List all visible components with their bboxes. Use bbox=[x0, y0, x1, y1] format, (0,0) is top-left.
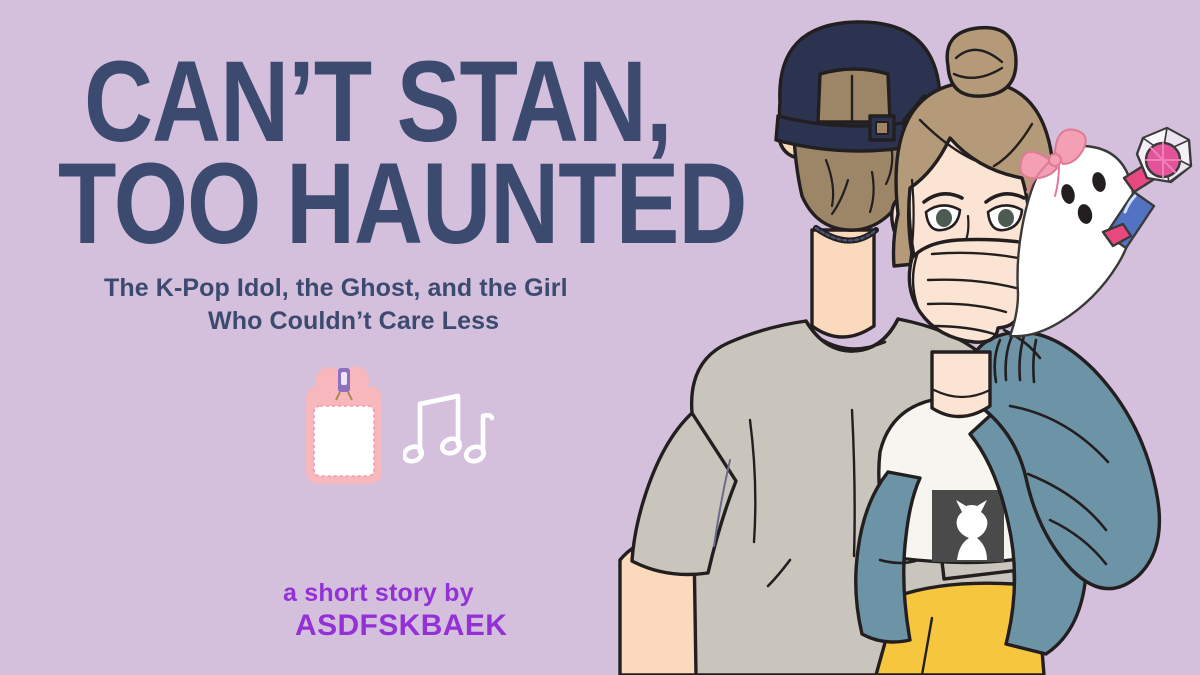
book-cover: CAN’T STAN, TOO HAUNTED The K-Pop Idol, … bbox=[0, 0, 1200, 675]
music-note-head-2 bbox=[440, 436, 462, 455]
girl-neck bbox=[932, 352, 990, 417]
subtitle: The K-Pop Idol, the Ghost, and the Girl … bbox=[104, 272, 724, 338]
byline-prefix: a short story by bbox=[283, 578, 507, 608]
byline: a short story by ASDFSKBAEK bbox=[283, 578, 507, 644]
music-note-single-stem bbox=[483, 415, 492, 452]
girl-left-pupil bbox=[936, 209, 952, 227]
music-note-beam bbox=[420, 396, 458, 404]
bunny-photocard-holder bbox=[296, 366, 396, 488]
photocard-window bbox=[314, 406, 374, 476]
title-block: CAN’T STAN, TOO HAUNTED bbox=[58, 46, 818, 238]
music-note-head-1 bbox=[403, 444, 424, 463]
byline-author: ASDFSKBAEK bbox=[283, 608, 507, 644]
music-note-head-3 bbox=[464, 444, 486, 463]
music-notes bbox=[403, 382, 499, 468]
ghost-with-lightstick bbox=[985, 120, 1195, 340]
ghost-bow-knot bbox=[1049, 154, 1061, 166]
photocard-clip-window bbox=[341, 372, 347, 385]
title-line-2: TOO HAUNTED bbox=[58, 148, 848, 261]
girl-hair-bun bbox=[947, 28, 1016, 96]
subtitle-line-1: The K-Pop Idol, the Ghost, and the Girl bbox=[104, 274, 568, 302]
boy-cap-buckle-hole bbox=[876, 122, 888, 134]
subtitle-line-2: Who Couldn’t Care Less bbox=[104, 305, 724, 338]
